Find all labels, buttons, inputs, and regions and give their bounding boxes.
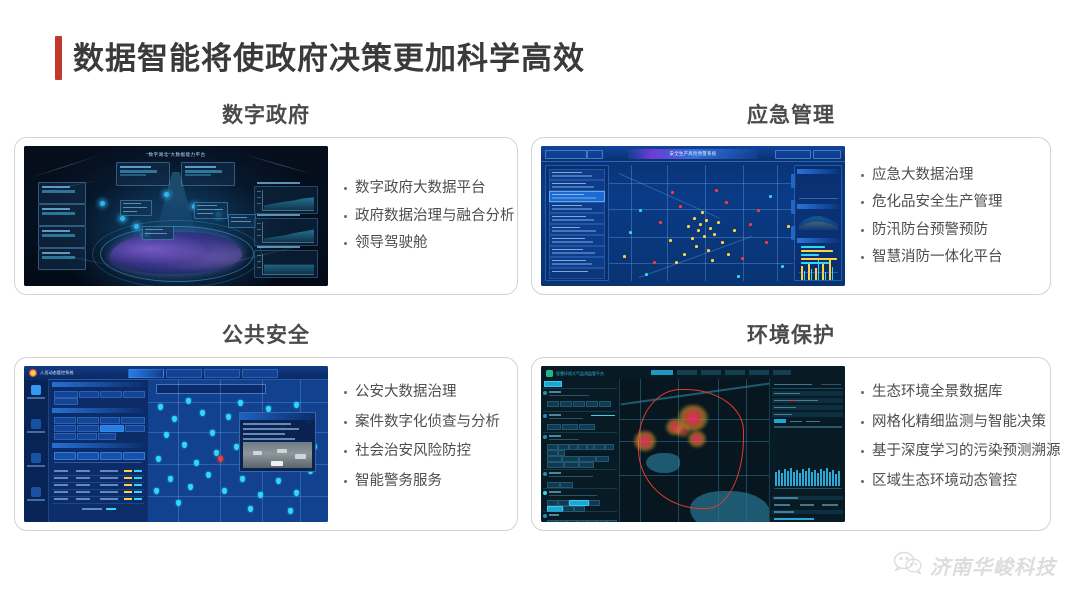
card-digital-government: "数字湖北"大数据能力平台: [14, 137, 518, 295]
dashboard-caption-digital-government: "数字湖北"大数据能力平台: [147, 152, 206, 158]
bullet-dot-icon: [861, 421, 864, 424]
digital-government-dashboard: "数字湖北"大数据能力平台: [24, 146, 328, 286]
bullet-text: 智慧消防一体化平台: [872, 250, 1003, 265]
bullet-dot-icon: [344, 480, 347, 483]
section-title-public-security: 公共安全: [14, 325, 518, 346]
list-item: 社会治安风险防控: [344, 444, 507, 459]
title-accent-bar: [55, 36, 62, 80]
emergency-management-dashboard: 安全生产风险预警系统: [541, 146, 845, 286]
bullet-dot-icon: [344, 450, 347, 453]
card-emergency-management: 安全生产风险预警系统: [531, 137, 1051, 295]
slide-root: 数据智能将使政府决策更加科学高效 数字政府 "数字湖北"大数据能力平台: [0, 0, 1080, 608]
public-security-dashboard: 人员动态管控系统: [24, 366, 328, 522]
bullet-text: 案件数字化侦查与分析: [355, 415, 500, 430]
bullet-dot-icon: [861, 174, 864, 177]
dashboard-caption-emergency-management: 安全生产风险预警系统: [670, 151, 717, 157]
bullet-list-digital-government: 数字政府大数据平台 政府数据治理与融合分析 领导驾驶舱: [328, 181, 515, 251]
list-item: 数字政府大数据平台: [344, 181, 515, 196]
list-item: 生态环境全景数据库: [861, 385, 1061, 400]
bullet-text: 危化品安全生产管理: [872, 195, 1003, 210]
section-title-digital-government: 数字政府: [14, 105, 518, 126]
camera-detail-popup[interactable]: [239, 412, 316, 472]
bullet-list-environmental-protection: 生态环境全景数据库 网格化精细监测与智能决策 基于深度学习的污染预测溯源 区域生…: [845, 385, 1061, 503]
list-item: 危化品安全生产管理: [861, 195, 1040, 210]
bullet-text: 生态环境全景数据库: [872, 385, 1003, 400]
map-search-input[interactable]: [156, 384, 266, 394]
list-item: 防汛防台预警预防: [861, 223, 1040, 238]
bullet-text: 防汛防台预警预防: [872, 223, 988, 238]
bullet-dot-icon: [344, 391, 347, 394]
bullet-text: 智能警务服务: [355, 474, 442, 489]
environmental-protection-dashboard: 智慧环保大气监测监管平台: [541, 366, 845, 522]
list-item: 基于深度学习的污染预测溯源: [861, 444, 1061, 459]
watermark-text: 济南华峻科技: [930, 551, 1056, 580]
list-item: 应急大数据治理: [861, 168, 1040, 183]
bullet-dot-icon: [344, 215, 347, 218]
dashboard-caption-environmental-protection: 智慧环保大气监测监管平台: [556, 371, 604, 377]
bullet-text: 区域生态环境动态管控: [872, 474, 1017, 489]
bullet-text: 应急大数据治理: [872, 168, 974, 183]
section-title-environmental-protection: 环境保护: [531, 325, 1051, 346]
watermark: 济南华峻科技: [893, 551, 1056, 580]
bullet-list-public-security: 公安大数据治理 案件数字化侦查与分析 社会治安风险防控 智能警务服务: [328, 385, 507, 503]
wechat-icon: [893, 551, 923, 580]
page-title: 数据智能将使政府决策更加科学高效: [55, 36, 585, 80]
bullet-text: 领导驾驶舱: [355, 236, 428, 251]
bullet-dot-icon: [344, 187, 347, 190]
list-item: 网格化精细监测与智能决策: [861, 415, 1061, 430]
bullet-dot-icon: [861, 391, 864, 394]
list-item: 智慧消防一体化平台: [861, 250, 1040, 265]
bullet-dot-icon: [861, 450, 864, 453]
list-item: 领导驾驶舱: [344, 236, 515, 251]
list-item: 案件数字化侦查与分析: [344, 415, 507, 430]
section-emergency-management: 应急管理 安全生产风险预警系统: [531, 105, 1051, 305]
bullet-dot-icon: [344, 242, 347, 245]
title-text: 数据智能将使政府决策更加科学高效: [73, 43, 585, 74]
section-environmental-protection: 环境保护 智慧环保大气监测监管平台: [531, 325, 1051, 540]
section-title-emergency-management: 应急管理: [531, 105, 1051, 126]
bullet-dot-icon: [861, 229, 864, 232]
bullet-dot-icon: [861, 480, 864, 483]
bullet-list-emergency-management: 应急大数据治理 危化品安全生产管理 防汛防台预警预防 智慧消防一体化平台: [845, 168, 1040, 265]
police-emblem-icon: [29, 369, 37, 377]
bullet-text: 社会治安风险防控: [355, 444, 471, 459]
bullet-dot-icon: [344, 421, 347, 424]
list-item: 区域生态环境动态管控: [861, 474, 1061, 489]
dashboard-caption-public-security: 人员动态管控系统: [40, 370, 74, 376]
bullet-dot-icon: [861, 256, 864, 259]
card-environmental-protection: 智慧环保大气监测监管平台: [531, 357, 1051, 531]
section-digital-government: 数字政府 "数字湖北"大数据能力平台: [14, 105, 518, 305]
app-logo-icon: [546, 370, 553, 377]
list-item: 智能警务服务: [344, 474, 507, 489]
list-item: 公安大数据治理: [344, 385, 507, 400]
bullet-text: 公安大数据治理: [355, 385, 457, 400]
bullet-text: 网格化精细监测与智能决策: [872, 415, 1046, 430]
bullet-text: 数字政府大数据平台: [355, 181, 486, 196]
camera-video-feed: [243, 442, 312, 468]
card-public-security: 人员动态管控系统: [14, 357, 518, 531]
bullet-text: 政府数据治理与融合分析: [355, 209, 515, 224]
list-item: 政府数据治理与融合分析: [344, 209, 515, 224]
section-public-security: 公共安全 人员动态管控系统: [14, 325, 518, 540]
bullet-dot-icon: [861, 201, 864, 204]
bullet-text: 基于深度学习的污染预测溯源: [872, 444, 1061, 459]
